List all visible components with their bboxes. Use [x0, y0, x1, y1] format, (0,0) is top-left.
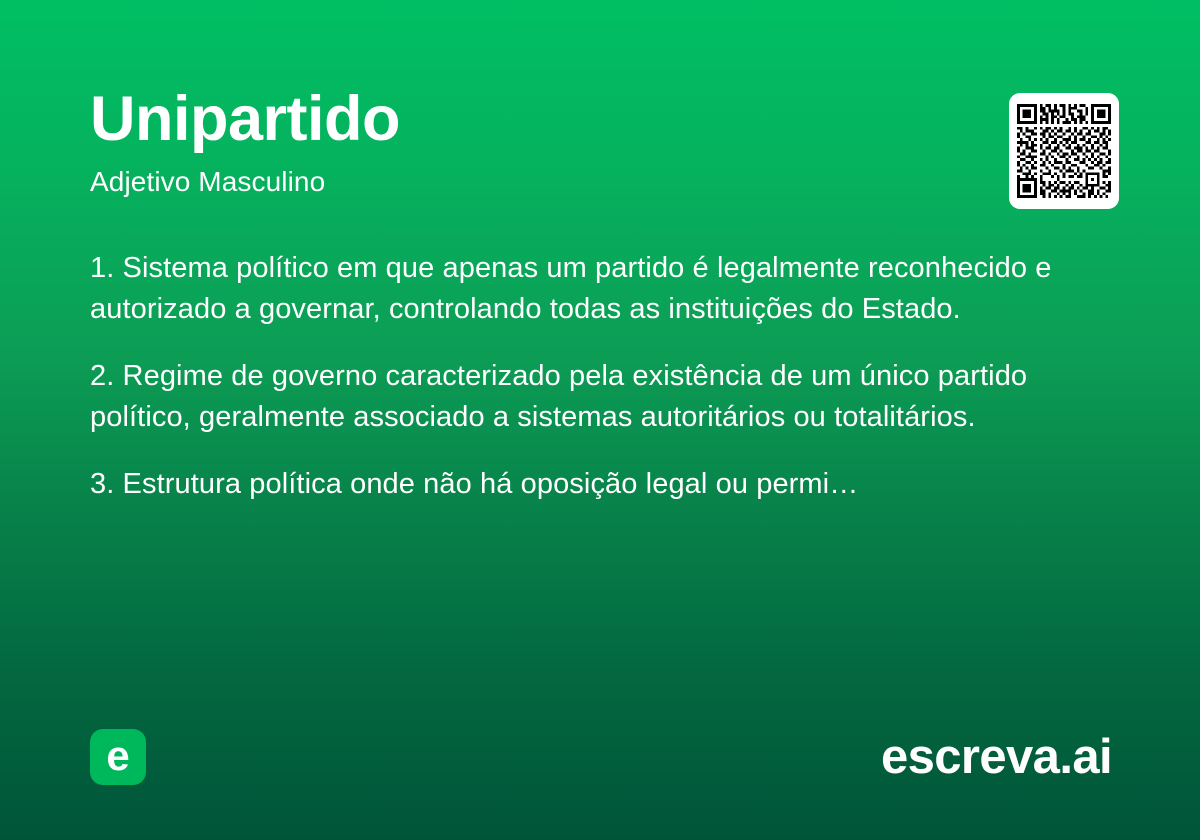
definition-item: 1. Sistema político em que apenas um par… — [90, 248, 1110, 330]
brand-logo-badge: e — [90, 729, 146, 785]
word-class-label: Adjetivo Masculino — [90, 165, 1110, 199]
brand-logo-letter: e — [106, 735, 129, 777]
definition-item: 3. Estrutura política onde não há oposiç… — [90, 464, 1110, 505]
definition-item: 2. Regime de governo caracterizado pela … — [90, 356, 1110, 438]
brand-wordmark: escreva.ai — [881, 733, 1112, 782]
page-title: Unipartido — [90, 88, 1110, 151]
definition-card: Unipartido Adjetivo Masculino — [0, 0, 1200, 840]
qr-code-icon — [1017, 104, 1111, 198]
footer: e escreva.ai — [90, 726, 1112, 788]
qr-code[interactable] — [1009, 93, 1119, 209]
header: Unipartido Adjetivo Masculino — [90, 88, 1110, 199]
definition-list: 1. Sistema político em que apenas um par… — [90, 248, 1110, 505]
